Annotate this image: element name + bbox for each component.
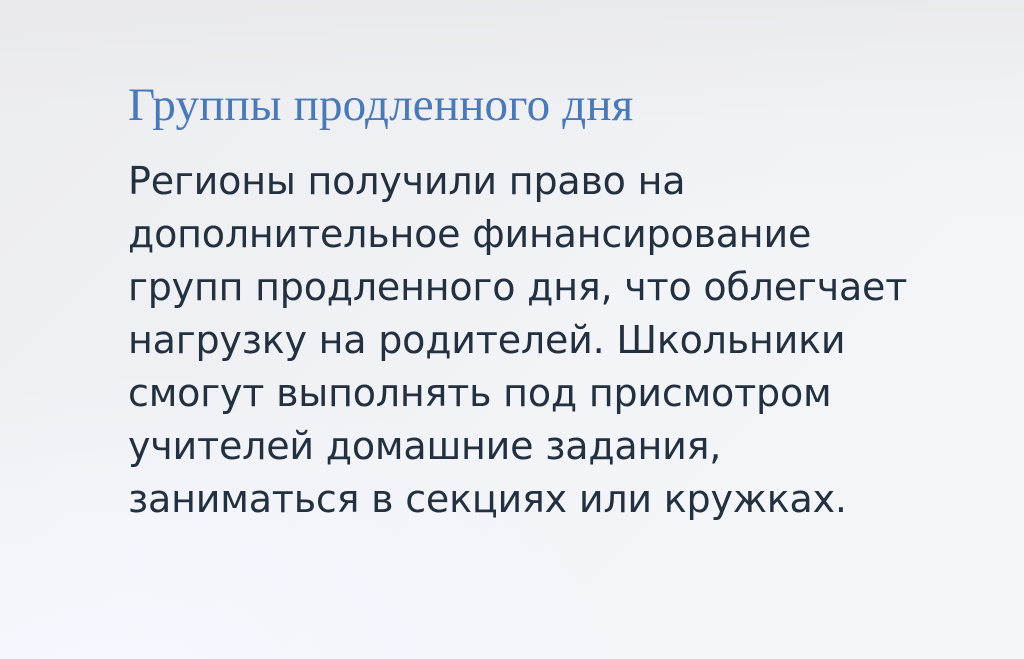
body-line: дополнительное финансирование (128, 208, 976, 261)
slide-content: Группы продленного дня Регионы получили … (128, 78, 976, 526)
body-line: смогут выполнять под присмотром (128, 367, 976, 420)
body-line: заниматься в секциях или кружках. (128, 473, 976, 526)
body-line: учителей домашние задания, (128, 420, 976, 473)
slide-body-text: Регионы получили право на дополнительное… (128, 133, 976, 526)
body-line: Регионы получили право на (128, 155, 976, 208)
body-line: нагрузку на родителей. Школьники (128, 314, 976, 367)
slide-canvas: Группы продленного дня Регионы получили … (0, 0, 1024, 659)
page-title: Группы продленного дня (128, 78, 976, 133)
body-line: групп продленного дня, что облегчает (128, 261, 976, 314)
